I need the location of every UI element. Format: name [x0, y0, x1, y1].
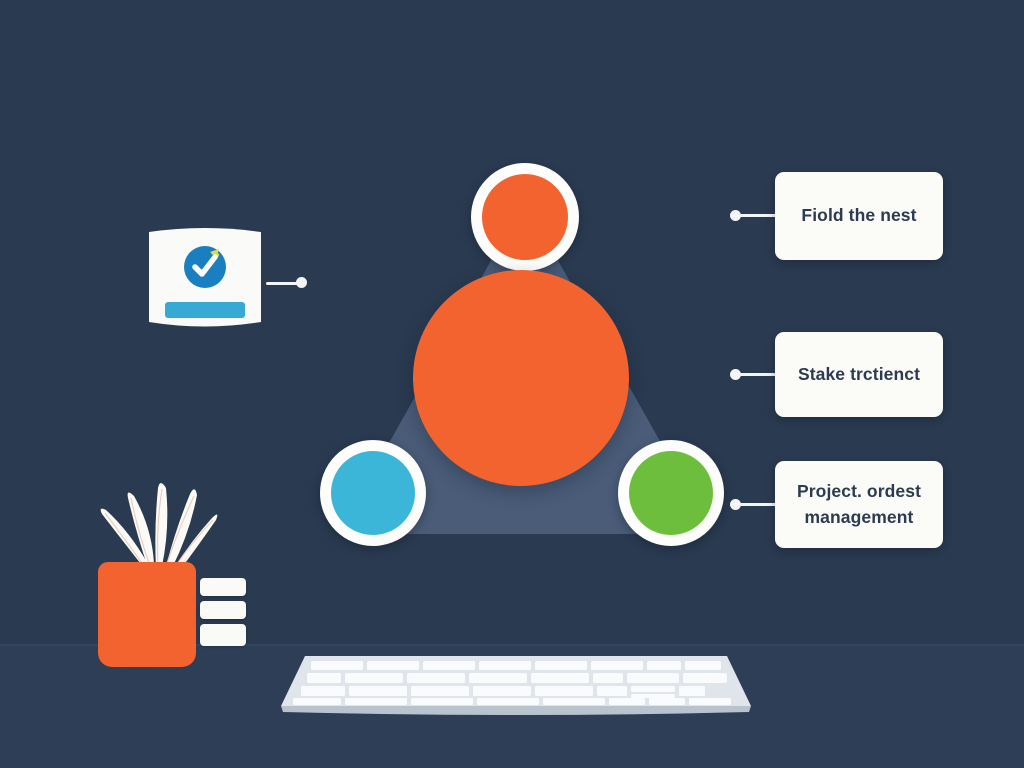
info-card-1-label: Fiold the nest	[801, 203, 916, 228]
plant-pot	[98, 562, 196, 667]
book-item	[200, 624, 246, 646]
connector-line-2	[737, 373, 777, 376]
triangle-node-diagram	[300, 150, 750, 570]
check-circle-icon	[184, 246, 226, 288]
book-item	[200, 601, 246, 619]
keyboard-shape	[265, 648, 765, 728]
verified-badge[interactable]	[143, 224, 267, 330]
node-right-green[interactable]	[618, 440, 724, 546]
connector-line-1	[737, 214, 777, 217]
node-left-cyan[interactable]	[320, 440, 426, 546]
node-top-orange[interactable]	[471, 163, 579, 271]
stacked-books	[200, 578, 246, 644]
info-card-2[interactable]: Stake trctienct	[775, 332, 943, 417]
info-card-1[interactable]: Fiold the nest	[775, 172, 943, 260]
keyboard[interactable]	[265, 648, 765, 728]
info-card-3-label: Project. ordest management	[797, 479, 921, 530]
node-center-main[interactable]	[413, 270, 629, 486]
connector-dot-badge	[296, 277, 307, 288]
info-card-3[interactable]: Project. ordest management	[775, 461, 943, 548]
badge-progress-bar	[165, 302, 245, 318]
book-item	[200, 578, 246, 596]
infographic-scene: Fiold the nest Stake trctienct Project. …	[0, 0, 1024, 768]
info-card-2-label: Stake trctienct	[798, 362, 920, 387]
connector-line-3	[737, 503, 777, 506]
